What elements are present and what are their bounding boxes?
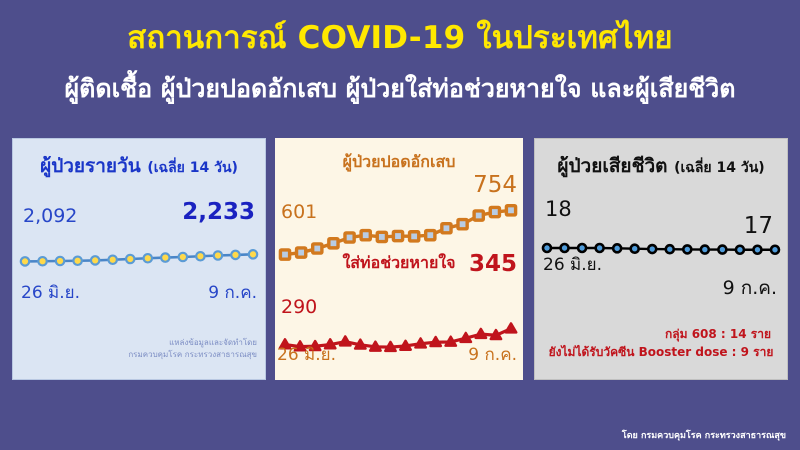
ventilator-end-value: 345 (469, 251, 517, 277)
deaths-notes: กลุ่ม 608 : 14 ราย ยังไม่ได้รับวัคซีน Bo… (535, 325, 787, 361)
panel-deaths-heading-main: ผู้ป่วยเสียชีวิต (557, 155, 667, 177)
deaths-note-booster: ยังไม่ได้รับวัคซีน Booster dose : 9 ราย (535, 343, 787, 361)
daily-cases-line-chart (19, 244, 259, 272)
ventilator-start-value: 290 (281, 296, 317, 318)
panel-daily-cases: ผู้ป่วยรายวัน (เฉลี่ย 14 วัน) 2,092 2,23… (12, 138, 266, 380)
panel-daily-cases-credit: แหล่งข้อมูลและจัดทำโดย กรมควบคุมโรค กระท… (128, 337, 257, 361)
deaths-note-608: กลุ่ม 608 : 14 ราย (535, 325, 787, 343)
page-subtitle: ผู้ติดเชื้อ ผู้ป่วยปอดอักเสบ ผู้ป่วยใส่ท… (0, 72, 800, 106)
panel-daily-cases-heading: ผู้ป่วยรายวัน (เฉลี่ย 14 วัน) (13, 151, 265, 181)
deaths-start-value: 18 (545, 197, 572, 221)
panel-pneumonia: ผู้ป่วยปอดอักเสบ 601 754 ใส่ท่อช่วยหายใจ… (275, 138, 523, 380)
page-title: สถานการณ์ COVID-19 ในประเทศไทย (0, 18, 800, 58)
pneumonia-end-date: 9 ก.ค. (468, 341, 517, 368)
deaths-end-date: 9 ก.ค. (723, 273, 777, 303)
daily-cases-end-value: 2,233 (182, 199, 255, 225)
panel-deaths-heading: ผู้ป่วยเสียชีวิต (เฉลี่ย 14 วัน) (535, 151, 787, 181)
pneumonia-start-date: 26 มิ.ย. (277, 341, 336, 368)
pneumonia-end-value: 754 (473, 172, 517, 198)
panel-daily-cases-heading-main: ผู้ป่วยรายวัน (40, 155, 141, 177)
daily-cases-end-date: 9 ก.ค. (208, 279, 257, 306)
daily-cases-start-value: 2,092 (23, 205, 77, 227)
footer-credit: โดย กรมควบคุมโรค กระทรวงสาธารณสุข (622, 428, 786, 442)
credit-line-2: กรมควบคุมโรค กระทรวงสาธารณสุข (128, 349, 257, 361)
panel-deaths-heading-sub: (เฉลี่ย 14 วัน) (674, 160, 765, 176)
credit-line-1: แหล่งข้อมูลและจัดทำโดย (128, 337, 257, 349)
panel-daily-cases-heading-sub: (เฉลี่ย 14 วัน) (147, 160, 238, 176)
panel-deaths: ผู้ป่วยเสียชีวิต (เฉลี่ย 14 วัน) 18 17 2… (534, 138, 788, 380)
header-banner: สถานการณ์ COVID-19 ในประเทศไทย ผู้ติดเชื… (0, 0, 800, 128)
pneumonia-start-value: 601 (281, 201, 317, 223)
daily-cases-start-date: 26 มิ.ย. (21, 279, 80, 306)
deaths-start-date: 26 มิ.ย. (543, 251, 602, 278)
